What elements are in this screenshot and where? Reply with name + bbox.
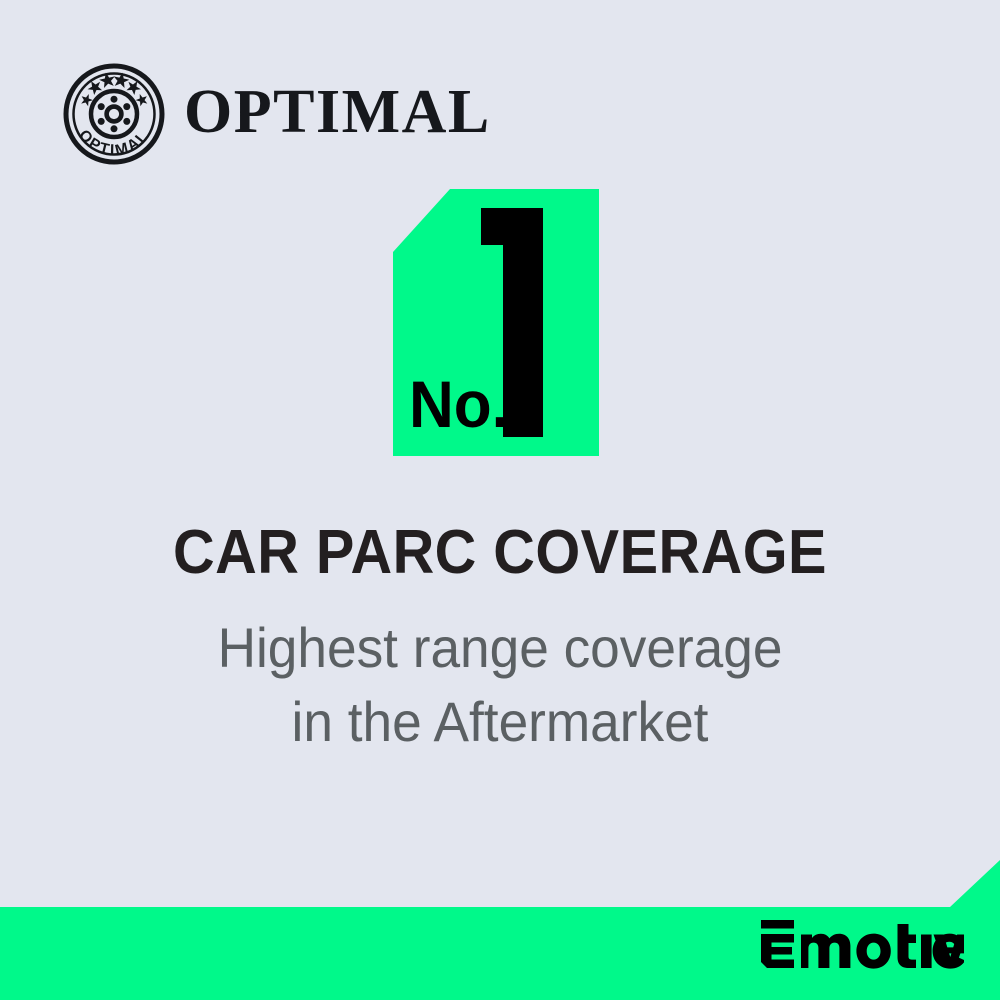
poster-canvas: OPTIMAL OPTIMAL: [0, 0, 1000, 1000]
optimal-wheel-hub-emblem: OPTIMAL: [62, 62, 166, 166]
badge-prefix-text: No.: [409, 367, 509, 441]
subtitle-line-1: Highest range coverage: [25, 611, 975, 685]
emotive-logo: [759, 920, 964, 972]
rank-badge: No.: [393, 189, 599, 456]
subtitle-line-2: in the Aftermarket: [25, 685, 975, 759]
brand-wordmark: OPTIMAL: [184, 81, 491, 147]
page-subtitle: Highest range coverage in the Aftermarke…: [25, 611, 975, 759]
footer-band: [0, 860, 1000, 1000]
brand-header: OPTIMAL OPTIMAL: [62, 62, 491, 166]
page-title: CAR PARC COVERAGE: [35, 520, 965, 585]
headline-block: CAR PARC COVERAGE Highest range coverage…: [0, 520, 1000, 759]
